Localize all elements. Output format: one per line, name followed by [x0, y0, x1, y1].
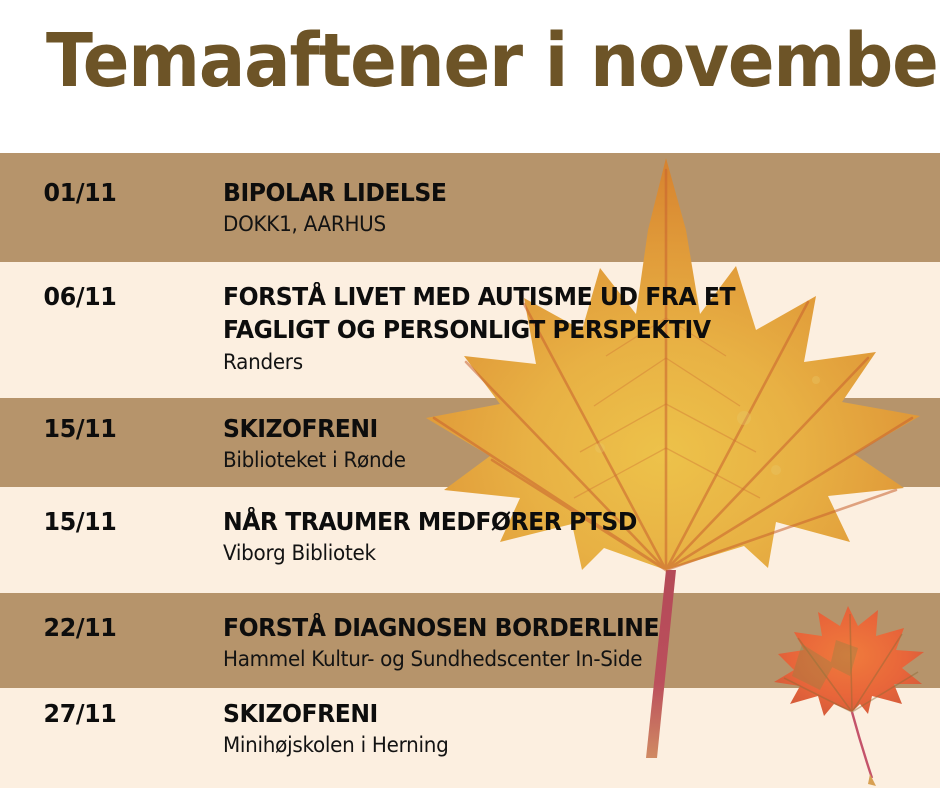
schedule-row[interactable]: 01/11BIPOLAR LIDELSEDOKK1, AARHUS	[0, 176, 940, 239]
event-date: 27/11	[4, 697, 156, 728]
schedule-row[interactable]: 15/11NÅR TRAUMER MEDFØRER PTSDViborg Bib…	[0, 505, 940, 568]
schedule-row[interactable]: 15/11SKIZOFRENIBiblioteket i Rønde	[0, 412, 940, 475]
event-venue: Minihøjskolen i Herning	[223, 732, 904, 759]
event-title: SKIZOFRENI	[223, 697, 897, 730]
event-date: 22/11	[4, 611, 156, 642]
event-venue: Biblioteket i Rønde	[223, 447, 904, 474]
event-details: SKIZOFRENIBiblioteket i Rønde	[160, 412, 940, 475]
page-title: Temaaftener i november	[46, 24, 940, 98]
event-title: SKIZOFRENI	[223, 412, 897, 445]
event-details: FORSTÅ LIVET MED AUTISME UD FRA ET FAGLI…	[160, 280, 940, 376]
schedule-row[interactable]: 22/11FORSTÅ DIAGNOSEN BORDERLINEHammel K…	[0, 611, 940, 674]
event-date: 01/11	[4, 176, 156, 207]
event-details: FORSTÅ DIAGNOSEN BORDERLINEHammel Kultur…	[160, 611, 940, 674]
event-date: 06/11	[4, 280, 156, 311]
event-details: NÅR TRAUMER MEDFØRER PTSDViborg Bibliote…	[160, 505, 940, 568]
poster-header: Temaaftener i november	[0, 0, 940, 153]
schedule-row[interactable]: 06/11FORSTÅ LIVET MED AUTISME UD FRA ET …	[0, 280, 940, 376]
event-venue: Viborg Bibliotek	[223, 540, 904, 567]
event-venue: Hammel Kultur- og Sundhedscenter In-Side	[223, 646, 904, 673]
event-date: 15/11	[4, 505, 156, 536]
schedule-row[interactable]: 27/11SKIZOFRENIMinihøjskolen i Herning	[0, 697, 940, 760]
event-details: BIPOLAR LIDELSEDOKK1, AARHUS	[160, 176, 940, 239]
event-title: FORSTÅ LIVET MED AUTISME UD FRA ET FAGLI…	[223, 280, 897, 347]
event-date: 15/11	[4, 412, 156, 443]
event-venue: Randers	[223, 349, 904, 376]
event-title: NÅR TRAUMER MEDFØRER PTSD	[223, 505, 897, 538]
event-details: SKIZOFRENIMinihøjskolen i Herning	[160, 697, 940, 760]
event-title: FORSTÅ DIAGNOSEN BORDERLINE	[223, 611, 897, 644]
event-title: BIPOLAR LIDELSE	[223, 176, 897, 209]
poster-canvas: Temaaftener i november 01/11BIPOLAR LIDE…	[0, 0, 940, 788]
event-venue: DOKK1, AARHUS	[223, 211, 904, 238]
